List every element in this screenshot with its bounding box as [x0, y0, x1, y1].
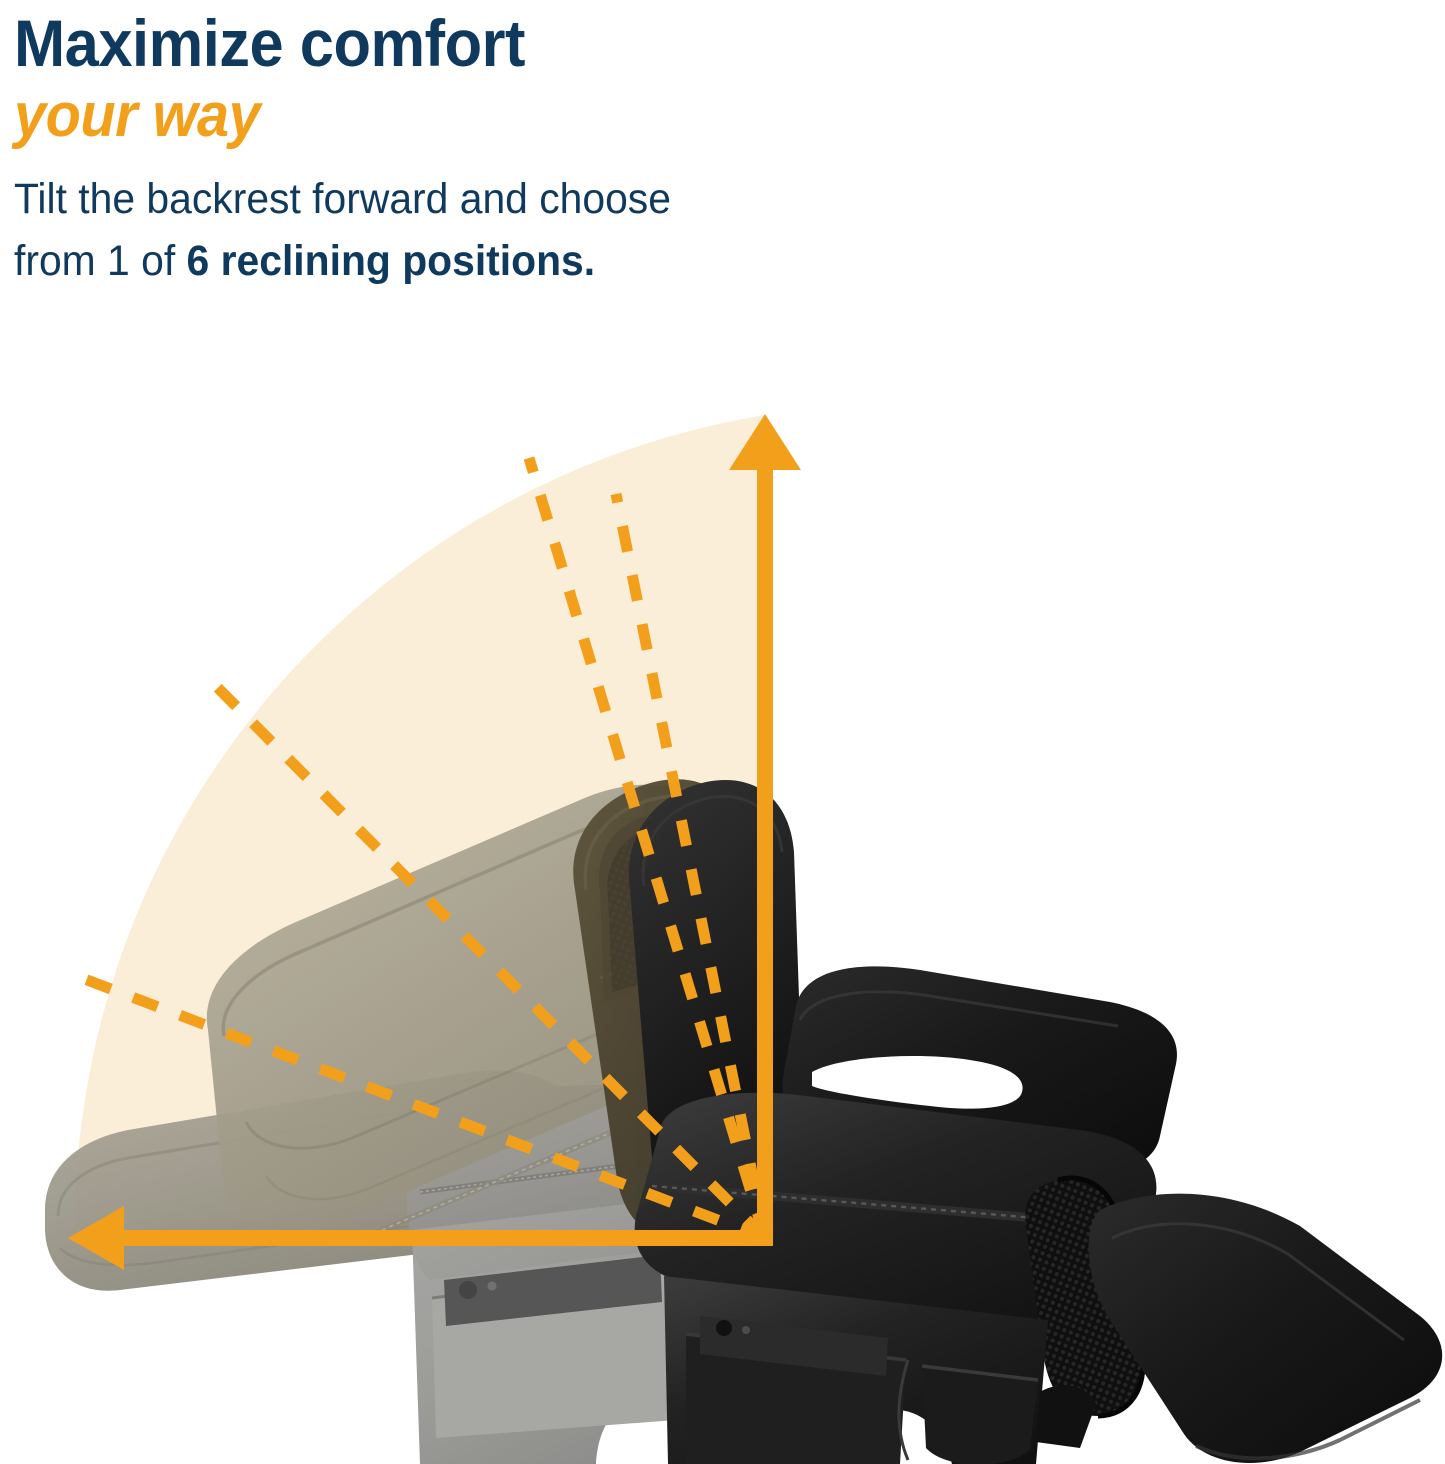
- product-feature-banner: Maximize comfort your way Tilt the backr…: [0, 0, 1445, 1464]
- subcopy-line-1: Tilt the backrest forward and choose: [14, 168, 964, 230]
- headline-secondary: your way: [14, 80, 944, 152]
- recline-diagram: ALPCOUR: [0, 330, 1445, 1464]
- subcopy-line-2: from 1 of 6 reclining positions.: [14, 230, 964, 292]
- vertical-arrow-shaft: [757, 448, 773, 1238]
- horizontal-arrow-shaft: [82, 1230, 773, 1246]
- subcopy-prefix: from 1 of: [14, 237, 187, 285]
- subcopy-emphasis: 6 reclining positions.: [187, 237, 596, 285]
- copy-block: Maximize comfort your way Tilt the backr…: [14, 0, 1014, 292]
- product-chair-black: [629, 780, 1442, 1464]
- headline-primary: Maximize comfort: [14, 0, 944, 80]
- subcopy: Tilt the backrest forward and choose fro…: [14, 152, 964, 292]
